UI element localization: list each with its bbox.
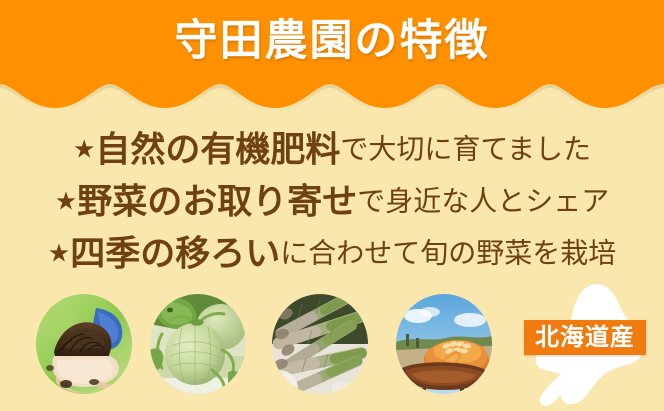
feature-rest-2: で身近な人とシェア [357,186,609,217]
feature-emphasis-3: 四季の移ろい [70,234,280,273]
asparagus-photo [272,294,368,394]
compost-in-hands-photo [36,294,132,394]
feature-rest-1: で大切に育てました [340,134,591,165]
star-icon: ★ [48,240,70,267]
badge-banner: 北海道産 [524,320,646,355]
star-icon: ★ [55,188,77,215]
status-badge: 北海道産 [510,282,664,411]
melon-on-vine-photo [150,294,246,394]
feature-rest-3: に合わせて旬の野菜を栽培 [280,238,616,269]
pumpkin-cut-photo [396,294,492,394]
feature-list: ★自然の有機肥料で大切に育てました ★野菜のお取り寄せで身近な人とシェア ★四季… [0,127,664,283]
promo-banner: 守田農園の特徴 ★自然の有機肥料で大切に育てました ★野菜のお取り寄せで身近な人… [0,0,664,411]
banner-header: 守田農園の特徴 [0,0,664,112]
badge-label: 北海道産 [535,326,635,350]
feature-item-2: ★野菜のお取り寄せで身近な人とシェア [0,179,664,225]
feature-emphasis-2: 野菜のお取り寄せ [77,182,357,221]
feature-item-3: ★四季の移ろいに合わせて旬の野菜を栽培 [0,231,664,277]
wave-divider-icon [0,82,664,112]
feature-item-1: ★自然の有機肥料で大切に育てました [0,127,664,173]
page-title: 守田農園の特徴 [0,17,664,67]
star-icon: ★ [73,136,95,163]
feature-emphasis-1: 自然の有機肥料 [95,130,340,169]
